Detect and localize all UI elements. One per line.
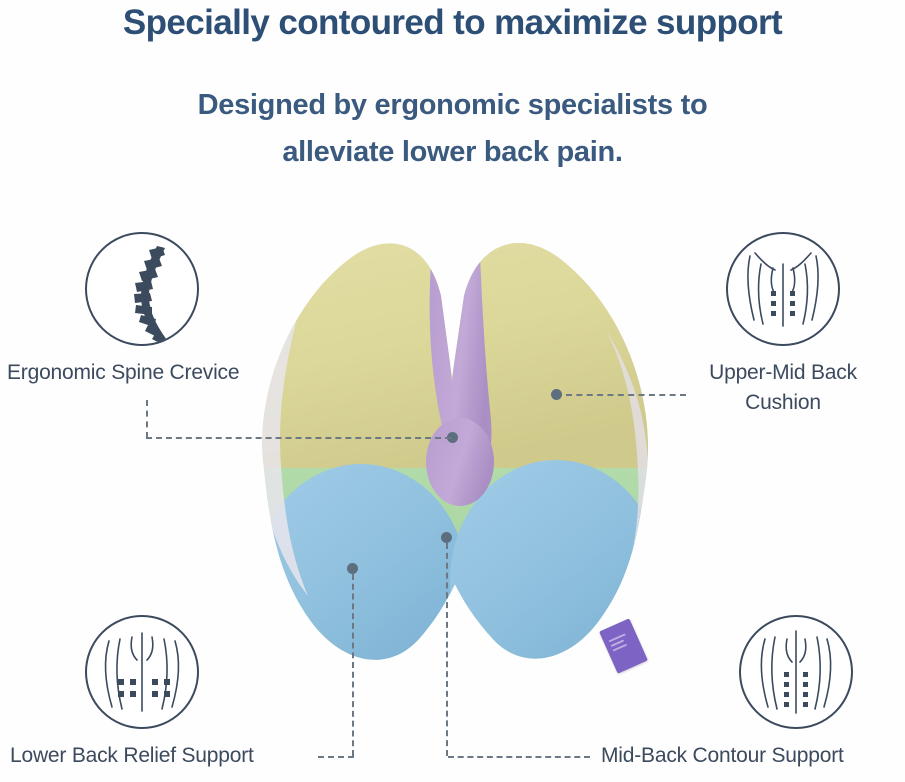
infographic-canvas: Specially contoured to maximize support … (0, 0, 905, 782)
brand-tag-text (609, 632, 636, 657)
subheadline-line-1: Designed by ergonomic specialists to (0, 82, 905, 129)
marker-dot-upper-mid-back (551, 389, 562, 400)
leader-v-lower-back (352, 574, 354, 756)
feature-label-upper-mid-back-cushion: Upper-Mid Back Cushion (688, 358, 878, 419)
feature-label-mid-back-contour-support: Mid-Back Contour Support (601, 741, 844, 771)
marker-dot-lower-back (347, 563, 358, 574)
page-headline: Specially contoured to maximize support (0, 2, 905, 44)
pressure-point-dots (118, 679, 170, 697)
product-image (236, 210, 676, 705)
leader-h-spine-crevice (146, 437, 451, 439)
feature-upper-mid-back-cushion[interactable]: Upper-Mid Back Cushion (726, 232, 840, 346)
lower-back-torso-icon (85, 615, 199, 729)
leader-v-mid-back (446, 543, 448, 756)
mid-back-spine-dots-icon (739, 615, 853, 729)
feature-label-line-2: Cushion (745, 391, 821, 414)
page-subheadline: Designed by ergonomic specialists to all… (0, 82, 905, 176)
feature-ergonomic-spine-crevice[interactable]: Ergonomic Spine Crevice (85, 232, 199, 346)
leader-h-upper-mid-back (566, 394, 686, 396)
feature-mid-back-contour-support[interactable]: Mid-Back Contour Support (739, 615, 853, 729)
marker-dot-mid-back (441, 532, 452, 543)
upper-back-torso-icon (726, 232, 840, 346)
leader-v-spine-crevice (146, 400, 148, 438)
spine-crevice-pad (426, 418, 494, 506)
subheadline-line-2: alleviate lower back pain. (0, 129, 905, 176)
feature-label-lower-back-relief-support: Lower Back Relief Support (10, 741, 254, 771)
feature-label-line-1: Upper-Mid Back (709, 361, 857, 384)
spine-vertebrae-icon (85, 232, 199, 346)
feature-lower-back-relief-support[interactable]: Lower Back Relief Support (85, 615, 199, 729)
leader-h-mid-back (448, 756, 590, 758)
feature-label-ergonomic-spine-crevice: Ergonomic Spine Crevice (7, 358, 239, 388)
lower-back-lobe-left (255, 464, 467, 700)
leader-h-lower-back (318, 756, 354, 758)
